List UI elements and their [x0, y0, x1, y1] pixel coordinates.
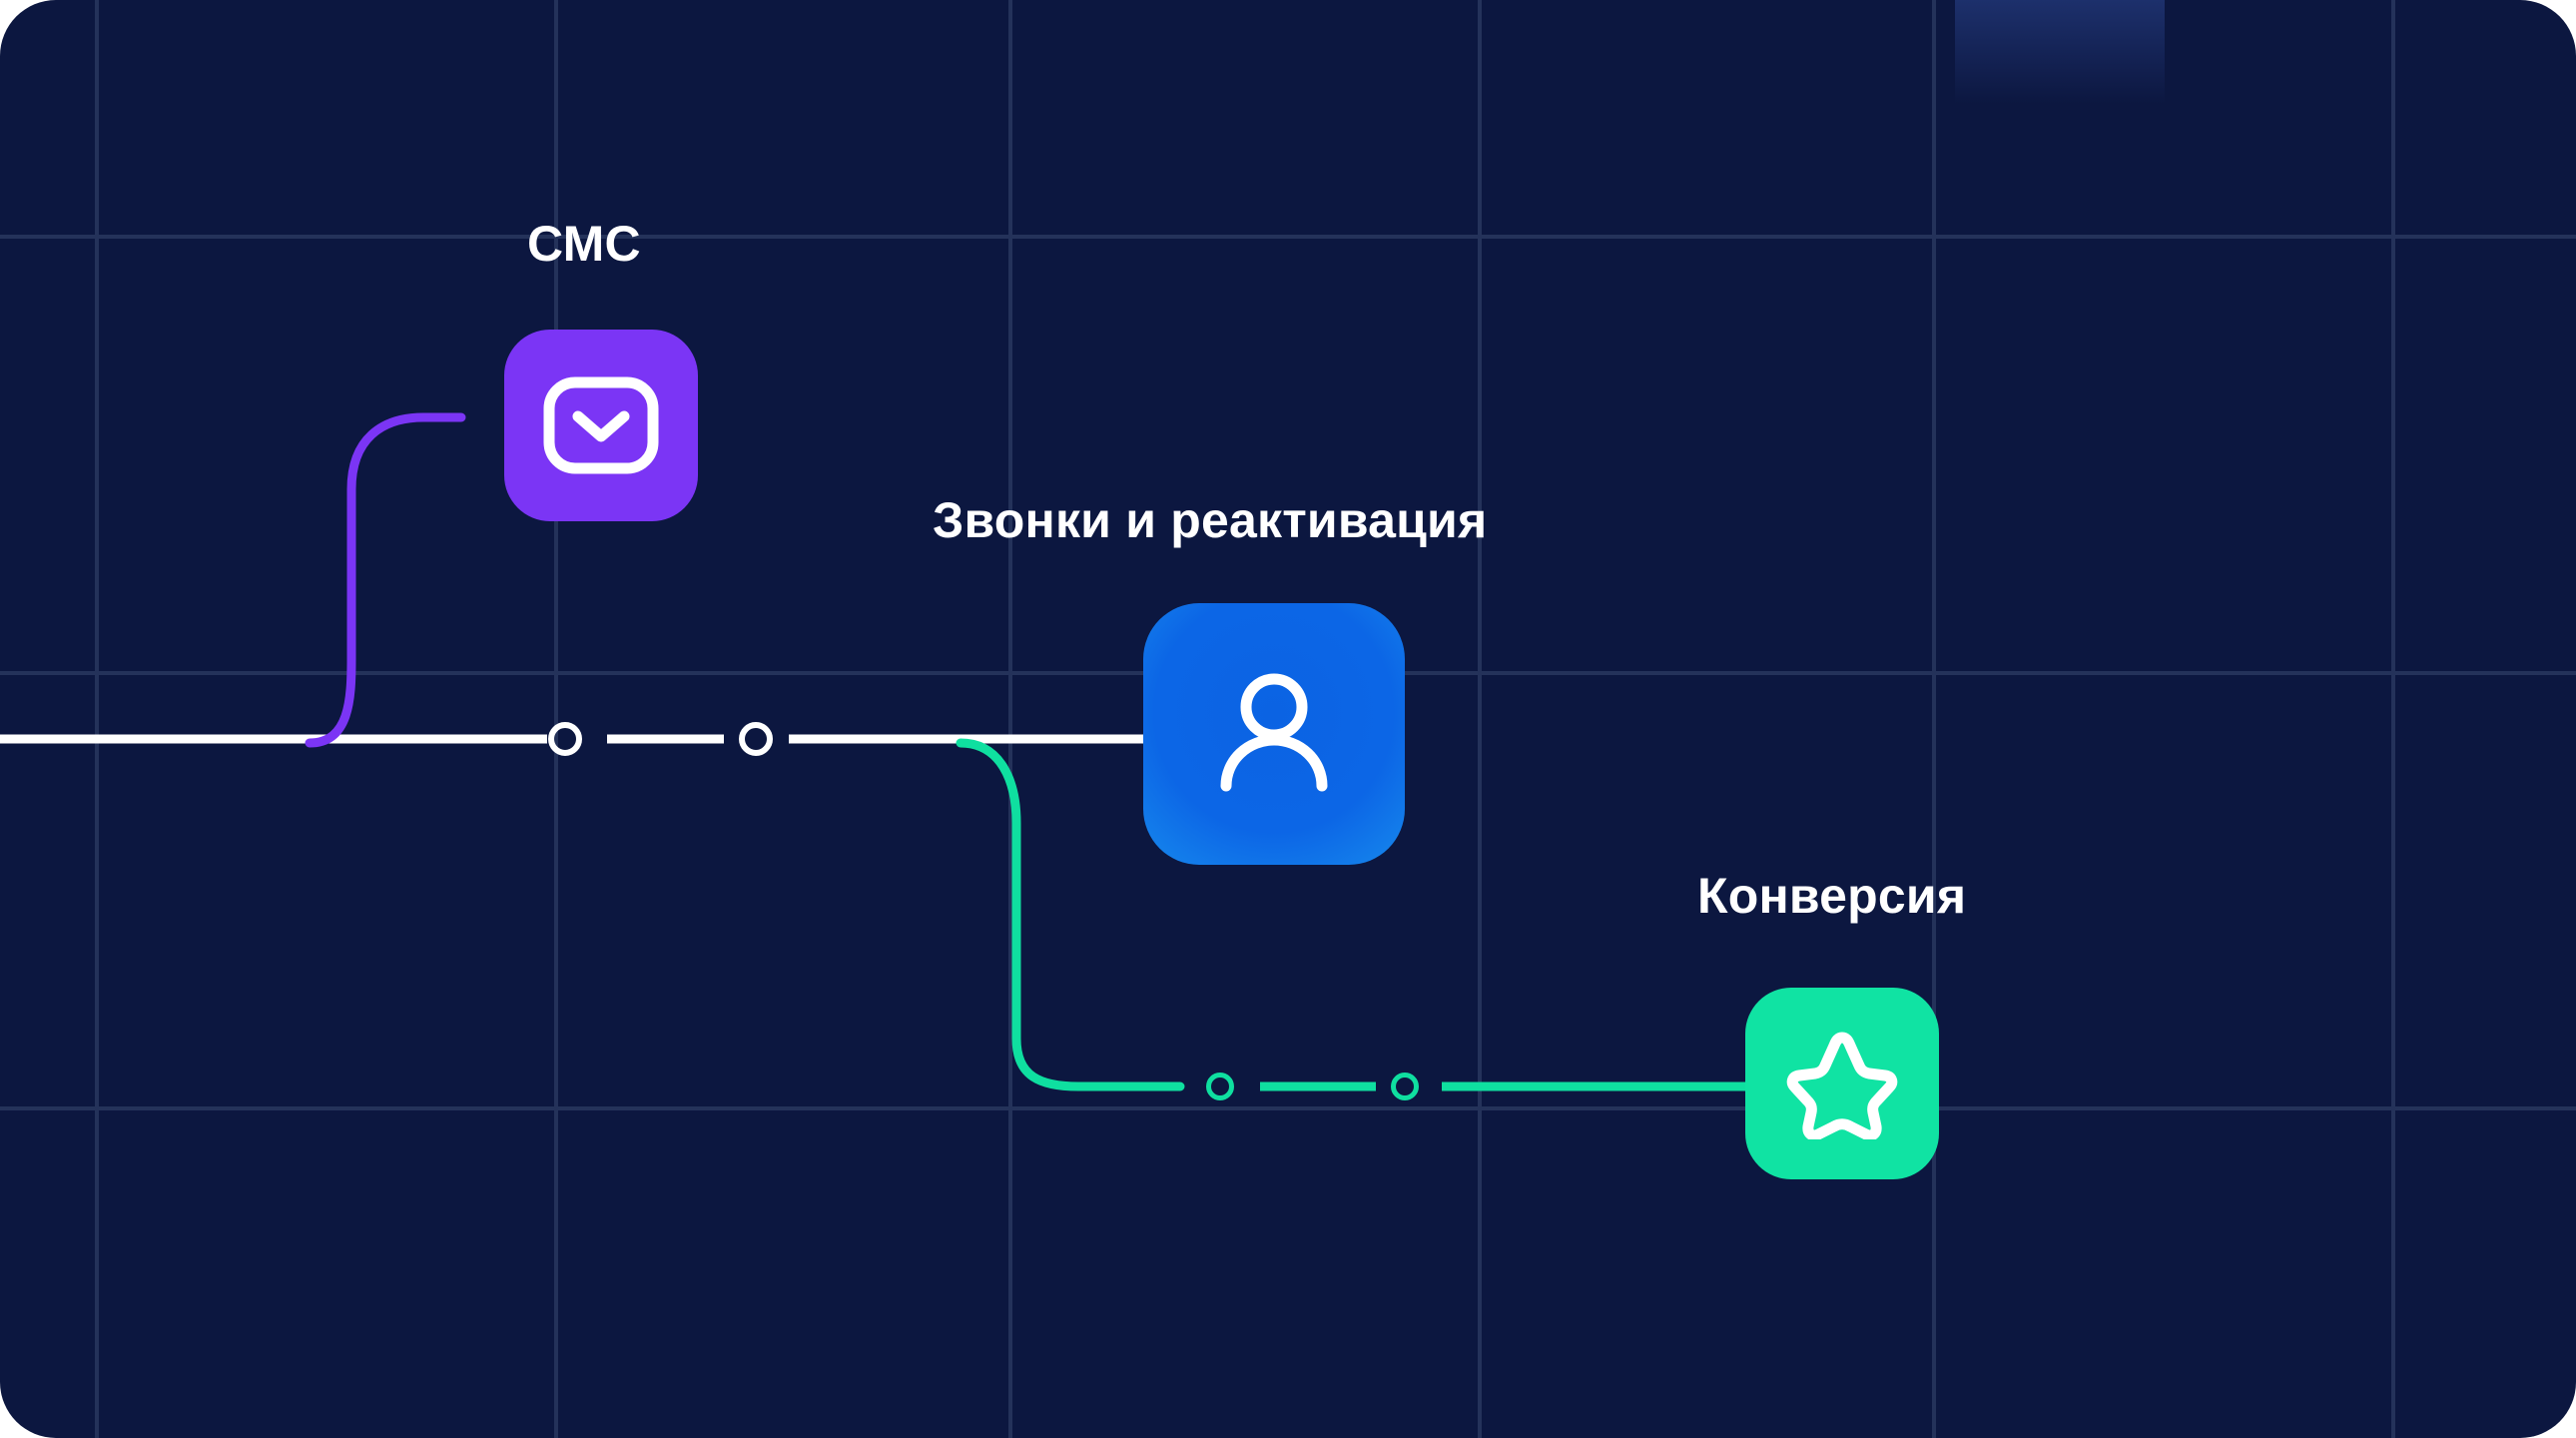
person-icon [1209, 670, 1339, 798]
flow-node-main-1[interactable] [548, 722, 582, 756]
envelope-icon [542, 375, 660, 475]
step-card-calls[interactable] [1143, 603, 1405, 865]
flow-node-main-2[interactable] [739, 722, 773, 756]
step-label-sms: СМС [527, 215, 641, 273]
flow-canvas: СМС Звонки и реактивация Конверсия [0, 0, 2576, 1438]
step-label-conversion: Конверсия [1697, 867, 1966, 925]
step-card-conversion[interactable] [1745, 988, 1939, 1179]
step-label-calls: Звонки и реактивация [933, 491, 1487, 549]
step-card-sms[interactable] [504, 330, 698, 521]
sms-branch-wire [310, 417, 461, 743]
flow-node-conversion-2[interactable] [1391, 1073, 1419, 1100]
flow-node-conversion-1[interactable] [1206, 1073, 1234, 1100]
screenshot-root: СМС Звонки и реактивация Конверсия [0, 0, 2576, 1438]
star-icon [1784, 1028, 1900, 1139]
